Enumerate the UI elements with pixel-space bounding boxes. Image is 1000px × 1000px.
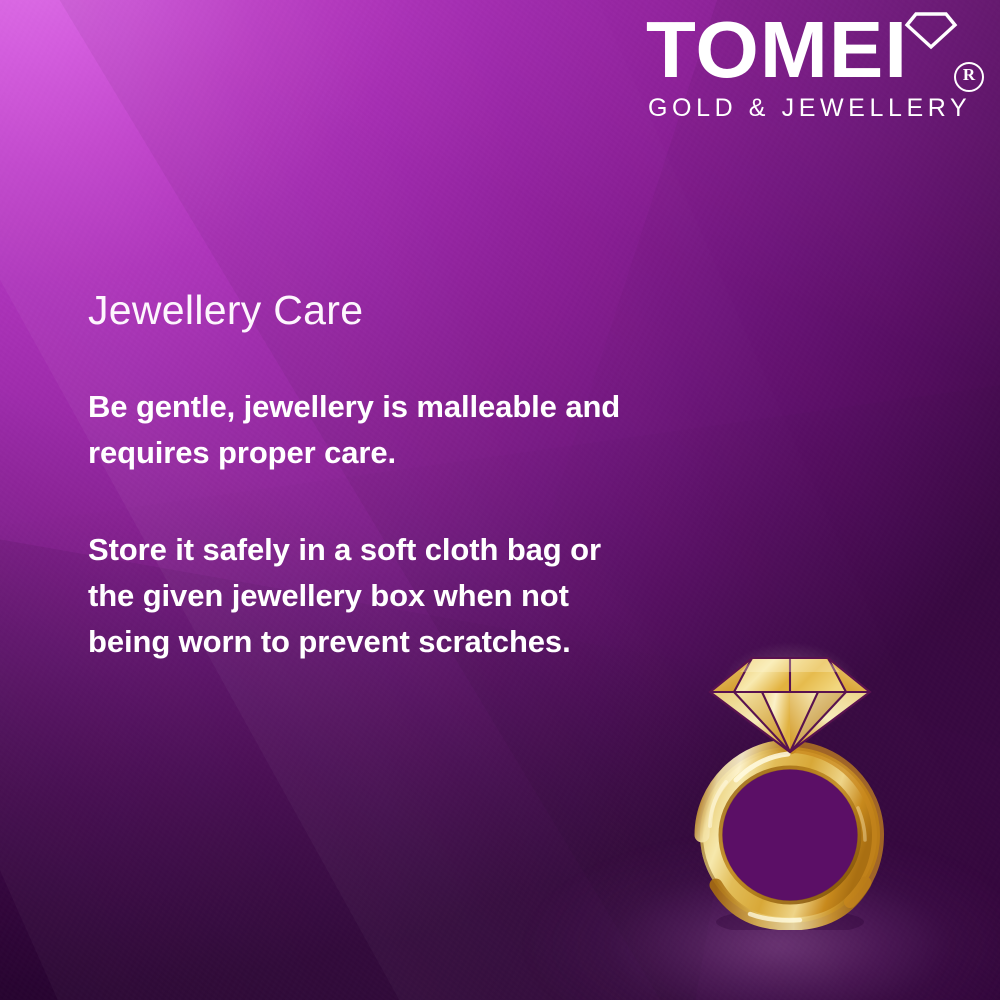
diamond-gem [710,642,870,752]
diamond-ring-illustration [690,630,890,930]
care-paragraph-1: Be gentle, jewellery is malleable and re… [88,384,648,475]
poster-canvas: TOMEI R GOLD & JEWELLERY Jewellery Care … [0,0,1000,1000]
care-paragraph-2: Store it safely in a soft cloth bag or t… [88,527,648,664]
brand-logo: TOMEI R GOLD & JEWELLERY [638,8,978,123]
copy-block: Jewellery Care Be gentle, jewellery is m… [88,288,648,664]
diamond-outline-icon [904,10,958,50]
brand-tagline: GOLD & JEWELLERY [638,94,978,123]
registered-trademark-symbol: R [954,62,984,92]
ring-band [700,747,880,930]
page-title: Jewellery Care [88,288,648,332]
brand-logo-top-row: TOMEI R [638,8,978,92]
brand-wordmark: TOMEI [646,8,908,92]
